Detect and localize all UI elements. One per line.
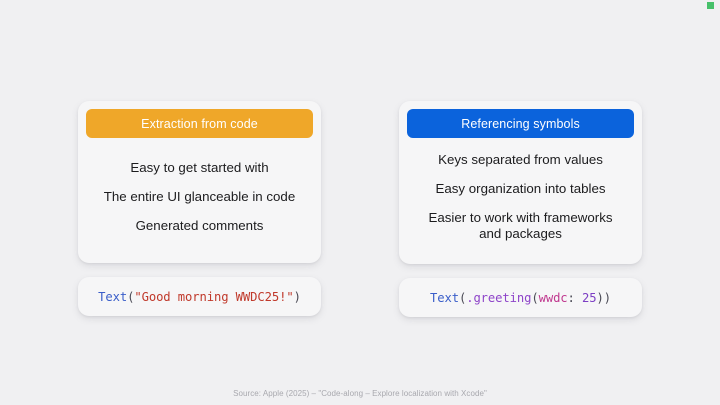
- code-token-label: wwdc: [539, 291, 568, 305]
- card-extraction-from-code: Extraction from code Easy to get started…: [78, 101, 321, 263]
- code-token-type: Text: [98, 290, 127, 304]
- code-token-punct: ): [294, 290, 301, 304]
- code-token-punct: (: [531, 291, 538, 305]
- green-square-marker: [707, 2, 714, 9]
- card-header-referencing-symbols: Referencing symbols: [407, 109, 634, 138]
- bullet-list-referencing-symbols: Keys separated from values Easy organiza…: [407, 138, 634, 252]
- code-token-member: .greeting: [466, 291, 531, 305]
- comparison-columns: Extraction from code Easy to get started…: [0, 101, 720, 317]
- code-line: Text("Good morning WWDC25!"): [98, 290, 301, 304]
- code-token-number: 25: [582, 291, 596, 305]
- source-caption: Source: Apple (2025) – "Code-along – Exp…: [0, 389, 720, 398]
- bullet-item: Generated comments: [90, 211, 309, 240]
- bullet-item: Easy organization into tables: [411, 175, 630, 204]
- card-header-extraction-from-code: Extraction from code: [86, 109, 313, 138]
- bullet-list-extraction-from-code: Easy to get started with The entire UI g…: [86, 138, 313, 251]
- column-extraction-from-code: Extraction from code Easy to get started…: [78, 101, 321, 317]
- bullet-item: Keys separated from values: [411, 146, 630, 175]
- card-referencing-symbols: Referencing symbols Keys separated from …: [399, 101, 642, 264]
- code-line: Text(.greeting(wwdc: 25)): [430, 291, 611, 305]
- column-referencing-symbols: Referencing symbols Keys separated from …: [399, 101, 642, 317]
- code-token-punct: :: [568, 291, 582, 305]
- bullet-item: The entire UI glanceable in code: [90, 182, 309, 211]
- code-token-string: "Good morning WWDC25!": [134, 290, 293, 304]
- code-snippet-referencing-symbols: Text(.greeting(wwdc: 25)): [399, 278, 642, 317]
- bullet-item: Easy to get started with: [90, 153, 309, 182]
- code-token-type: Text: [430, 291, 459, 305]
- slide-canvas: Extraction from code Easy to get started…: [0, 0, 720, 405]
- code-token-punct: )): [597, 291, 611, 305]
- bullet-item: Easier to work with frameworks and packa…: [411, 204, 630, 249]
- code-snippet-extraction-from-code: Text("Good morning WWDC25!"): [78, 277, 321, 316]
